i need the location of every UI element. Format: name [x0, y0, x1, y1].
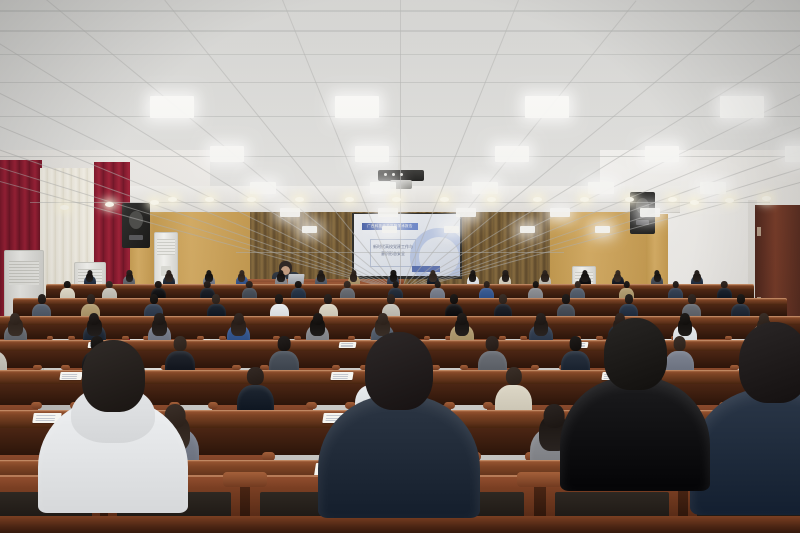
- attendee-head: [279, 270, 284, 276]
- attendee-black-jacket: [560, 318, 710, 491]
- downlight-right-wall: [725, 198, 734, 203]
- downlight-left-wall: [60, 205, 69, 210]
- attendee-head: [543, 270, 548, 276]
- downlight: [580, 197, 589, 202]
- attendee-head: [582, 270, 587, 276]
- attendee-head: [87, 270, 92, 276]
- attendee-head: [532, 281, 539, 289]
- attendee-head: [391, 270, 396, 276]
- chair-armrest-cap: [241, 472, 267, 487]
- downlight: [168, 197, 177, 202]
- downlight: [205, 197, 214, 202]
- attendee-head: [64, 281, 71, 289]
- downlight: [668, 197, 677, 202]
- attendee-head: [324, 294, 332, 303]
- attendee-head: [623, 281, 630, 289]
- attendee-head: [672, 281, 679, 289]
- attendee-head: [127, 270, 132, 276]
- downlight-right-wall: [762, 196, 771, 201]
- attendee-head: [239, 270, 244, 276]
- audience-area: [0, 270, 800, 533]
- desk-foreground: [0, 516, 800, 533]
- attendee-head: [430, 270, 435, 276]
- downlight: [295, 197, 304, 202]
- attendee-head: [295, 281, 302, 289]
- downlight-left-wall: [150, 200, 159, 205]
- attendee-head: [365, 332, 433, 410]
- downlight: [440, 197, 449, 202]
- attendee-torso: [560, 377, 710, 491]
- downlight: [247, 197, 256, 202]
- attendee-head: [655, 270, 660, 276]
- attendee-head: [688, 294, 696, 303]
- attendee-head: [457, 313, 467, 325]
- attendee-head: [351, 270, 356, 276]
- attendee-head: [393, 281, 400, 289]
- attendee-head: [739, 322, 800, 403]
- attendee-head: [155, 281, 162, 289]
- attendee-head: [206, 270, 211, 276]
- attendee-head: [246, 281, 253, 289]
- attendee-head: [212, 294, 220, 303]
- attendee-head: [625, 294, 633, 303]
- attendee-head: [204, 281, 211, 289]
- attendee-head: [344, 281, 351, 289]
- attendee-head: [106, 281, 113, 289]
- attendee-head: [10, 313, 20, 325]
- attendee-white-hoodie: [38, 340, 188, 513]
- attendee-head: [167, 270, 172, 276]
- attendee-head: [150, 294, 158, 303]
- attendee-head: [313, 313, 323, 325]
- attendee-head: [604, 318, 667, 390]
- attendee-head: [87, 294, 95, 303]
- attendee-head: [435, 281, 442, 289]
- downlight: [533, 197, 542, 202]
- attendee-head: [562, 294, 570, 303]
- attendee-head: [615, 270, 620, 276]
- attendee-torso: [318, 395, 480, 518]
- attendee-head: [89, 313, 99, 325]
- attendee-head: [247, 367, 263, 386]
- attendee-head: [275, 294, 283, 303]
- downlight: [625, 197, 634, 202]
- attendee-head: [233, 313, 243, 325]
- attendee-head: [484, 281, 491, 289]
- attendee-head: [737, 294, 745, 303]
- attendee-head: [506, 367, 522, 386]
- chair-armrest-cap: [306, 402, 317, 409]
- attendee-head: [450, 294, 458, 303]
- downlight-right-wall: [690, 200, 699, 205]
- attendee-head: [486, 336, 499, 351]
- attendee-head: [318, 270, 323, 276]
- downlight-left-wall: [105, 202, 114, 207]
- attendee-head: [154, 313, 164, 325]
- attendee-head: [470, 270, 475, 276]
- downlight: [345, 197, 354, 202]
- attendee-head: [38, 294, 46, 303]
- attendee-head: [378, 313, 388, 325]
- attendee-head: [387, 294, 395, 303]
- attendee-head: [721, 281, 728, 289]
- downlight-row: [0, 0, 800, 300]
- attendee-head: [503, 270, 508, 276]
- chair-armrest-cap: [483, 402, 494, 409]
- attendee-head: [536, 313, 546, 325]
- attendee-head: [499, 294, 507, 303]
- downlight: [392, 197, 401, 202]
- attendee-head: [278, 336, 291, 351]
- attendee-dark-hoodie: [318, 332, 480, 518]
- attendee-head: [694, 270, 699, 276]
- lecture-hall-photo: 广西科技师范学院学术报告 新时代高校党建工作与 意识形态安全: [0, 0, 800, 533]
- chair-armrest-cap: [208, 402, 219, 409]
- downlight: [487, 197, 496, 202]
- attendee-head: [82, 340, 145, 412]
- attendee-head: [574, 281, 581, 289]
